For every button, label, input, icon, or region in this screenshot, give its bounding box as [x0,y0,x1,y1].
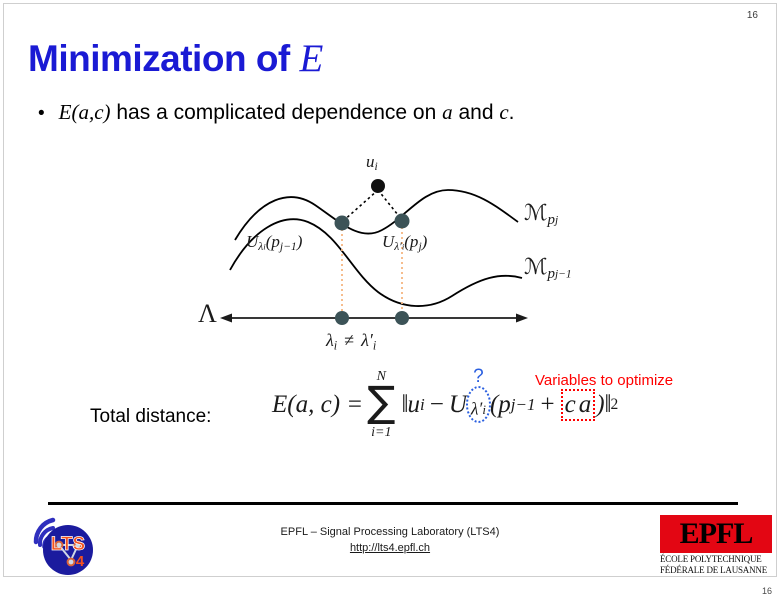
lts4-logo: LTS 4 [26,512,100,582]
lts4-logo-text-main: LTS [51,534,85,555]
page-title-math-E: E [300,37,323,80]
total-distance-label: Total distance: [90,406,211,428]
eq-boxed-c: c [565,391,576,418]
label-lambda-i-prime: λ′ [361,330,373,350]
eq-U: U [449,391,467,419]
epfl-logo: EPFL ÉCOLE POLYTECHNIQUE FÉDÉRALE DE LAU… [660,515,772,577]
lts4-logo-text-number: 4 [76,553,85,570]
label-manifold-bottom-symbol: ℳ [524,254,548,279]
label-U-left-base: U [246,232,258,251]
label-lambda-i-sub: i [334,338,337,352]
eq-u: u [407,391,420,419]
label-lambda-i: λ [326,330,334,350]
question-mark-annotation: ? [473,366,484,388]
epfl-logo-subtitle-line1: ÉCOLE POLYTECHNIQUE [660,554,772,565]
bullet-text-end: . [509,101,515,124]
sum-lower-limit: i=1 [367,425,395,441]
page-number-bottom: 16 [762,586,772,596]
sum-upper-limit: N [367,369,395,385]
label-u-i-base: u [366,152,375,171]
eq-exponent: 2 [611,396,619,414]
eq-plus: + [540,391,554,419]
eq-U-sub: λ′ [471,399,482,419]
eq-boxed-a: a [579,391,592,418]
summation-operator: N ∑ i=1 [367,386,395,423]
epfl-logo-subtitle: ÉCOLE POLYTECHNIQUE FÉDÉRALE DE LAUSANNE [660,554,772,576]
bullet-content: E(a,c) has a complicated dependence on a… [59,100,515,125]
bullet-text-mid: has a complicated dependence on [111,101,443,124]
label-u-i: ui [366,152,378,173]
axis-arrow-right-icon [516,314,528,323]
page-title: Minimization of E [28,36,323,81]
label-axis-inequality: λi≠λ′i [326,330,376,353]
eq-lhs: E(a, c) = [272,391,363,419]
eq-paren-close: ) [596,391,604,419]
label-U-left-arg-close: ) [297,232,303,251]
label-U-left-arg: (p [266,232,280,251]
bullet-math-args: (a,c) [71,100,110,124]
dotted-edge-left [342,190,378,222]
label-manifold-bottom-sub: p [548,266,555,282]
label-manifold-bottom-subsub: j−1 [555,268,572,280]
bullet-item-dependence: • E(a,c) has a complicated dependence on… [38,100,515,125]
eq-u-sub: i [420,395,425,415]
axis-point-lambda-i-prime [395,311,409,325]
bullet-math-a: a [442,100,453,124]
epfl-logo-subtitle-line2: FÉDÉRALE DE LAUSANNE [660,565,772,576]
label-axis-lambda-capital: Λ [198,299,217,329]
manifold-diagram: ui Uλi(pj−1) Uλ′i(pj) ℳpj ℳpj−1 Λ λi≠λ′i [190,150,590,365]
point-projection-left [335,216,350,231]
label-U-right-sub: λ′ [394,240,402,253]
label-manifold-top-sub: p [548,212,555,228]
bullet-math-c: c [499,100,508,124]
label-not-equal-icon: ≠ [344,330,354,350]
label-U-lambda-i: Uλi(pj−1) [246,232,302,253]
point-projection-right [395,214,410,229]
label-U-left-arg-sub: j−1 [280,240,297,253]
eq-U-subsub: i [482,402,486,417]
bullet-marker-icon: • [38,104,45,123]
point-u-i [371,179,385,193]
eq-minus: − [430,391,444,419]
label-lambda-i-prime-sub: i [373,338,376,352]
axis-arrow-left-icon [220,314,232,323]
label-manifold-pj: ℳpj [524,200,558,229]
epfl-logo-wordmark: EPFL [660,513,772,553]
highlight-unknown-lambda: ?λ′i [466,386,491,422]
page-number-top: 16 [747,10,758,21]
label-U-right-base: U [382,232,394,251]
slide-canvas: 16 Minimization of E • E(a,c) has a comp… [0,0,780,600]
footer-website-link[interactable]: http://lts4.epfl.ch [350,542,430,554]
label-manifold-pj-1: ℳpj−1 [524,254,572,283]
label-U-lambda-i-prime: Uλ′i(pj) [382,232,427,253]
eq-p-sub: j−1 [511,395,536,415]
lts4-logo-svg: LTS 4 [26,512,100,582]
highlight-optimize-variables: ca [561,389,596,421]
bullet-text-and: and [453,101,500,124]
label-u-i-subscript: i [375,160,378,173]
label-U-right-arg-close: ) [422,232,428,251]
eq-p: p [498,391,511,419]
page-title-text: Minimization of [28,38,300,79]
equation-area: Total distance: Variables to optimize E(… [0,368,780,478]
label-U-right-arg: (p [404,232,418,251]
bullet-math-E: E [59,100,72,124]
footer-divider [48,502,738,505]
label-manifold-top-symbol: ℳ [524,200,548,225]
energy-equation: E(a, c) = N ∑ i=1 ‖ui−U?λ′i(pj−1+ca)‖2 [272,386,618,423]
axis-point-lambda-i [335,311,349,325]
label-manifold-top-subsub: j [555,214,558,226]
